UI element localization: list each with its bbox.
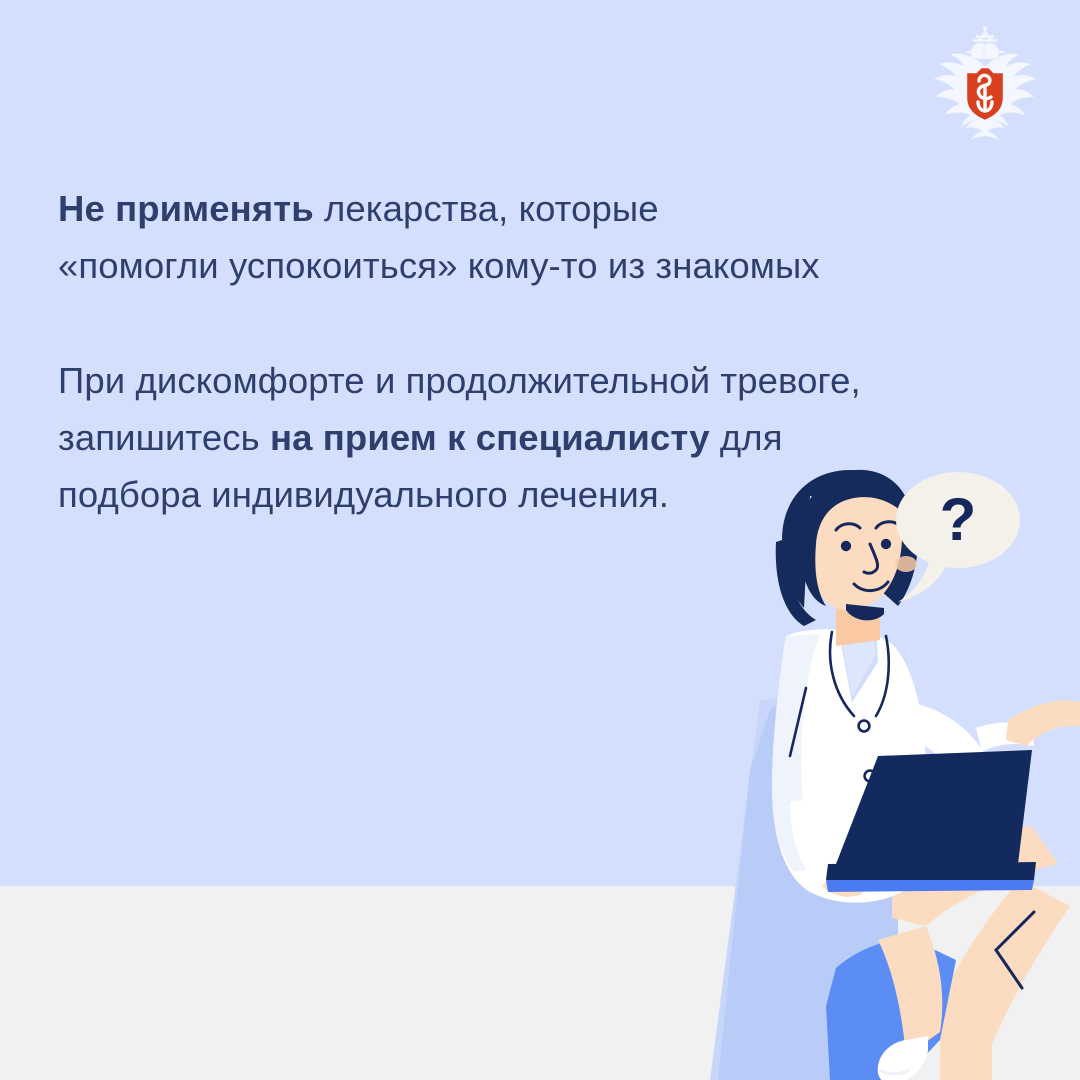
illustration-woman-with-laptop: ? [640,440,1080,1080]
paragraph-warning: Не применять лекарства, которые «помогли… [58,180,1038,294]
ministry-of-health-emblem-icon [926,26,1044,144]
paragraph-warning-bold: Не применять [58,188,314,229]
speech-bubble-question-mark: ? [940,486,977,553]
poster-root: Не применять лекарства, которые «помогли… [0,0,1080,1080]
